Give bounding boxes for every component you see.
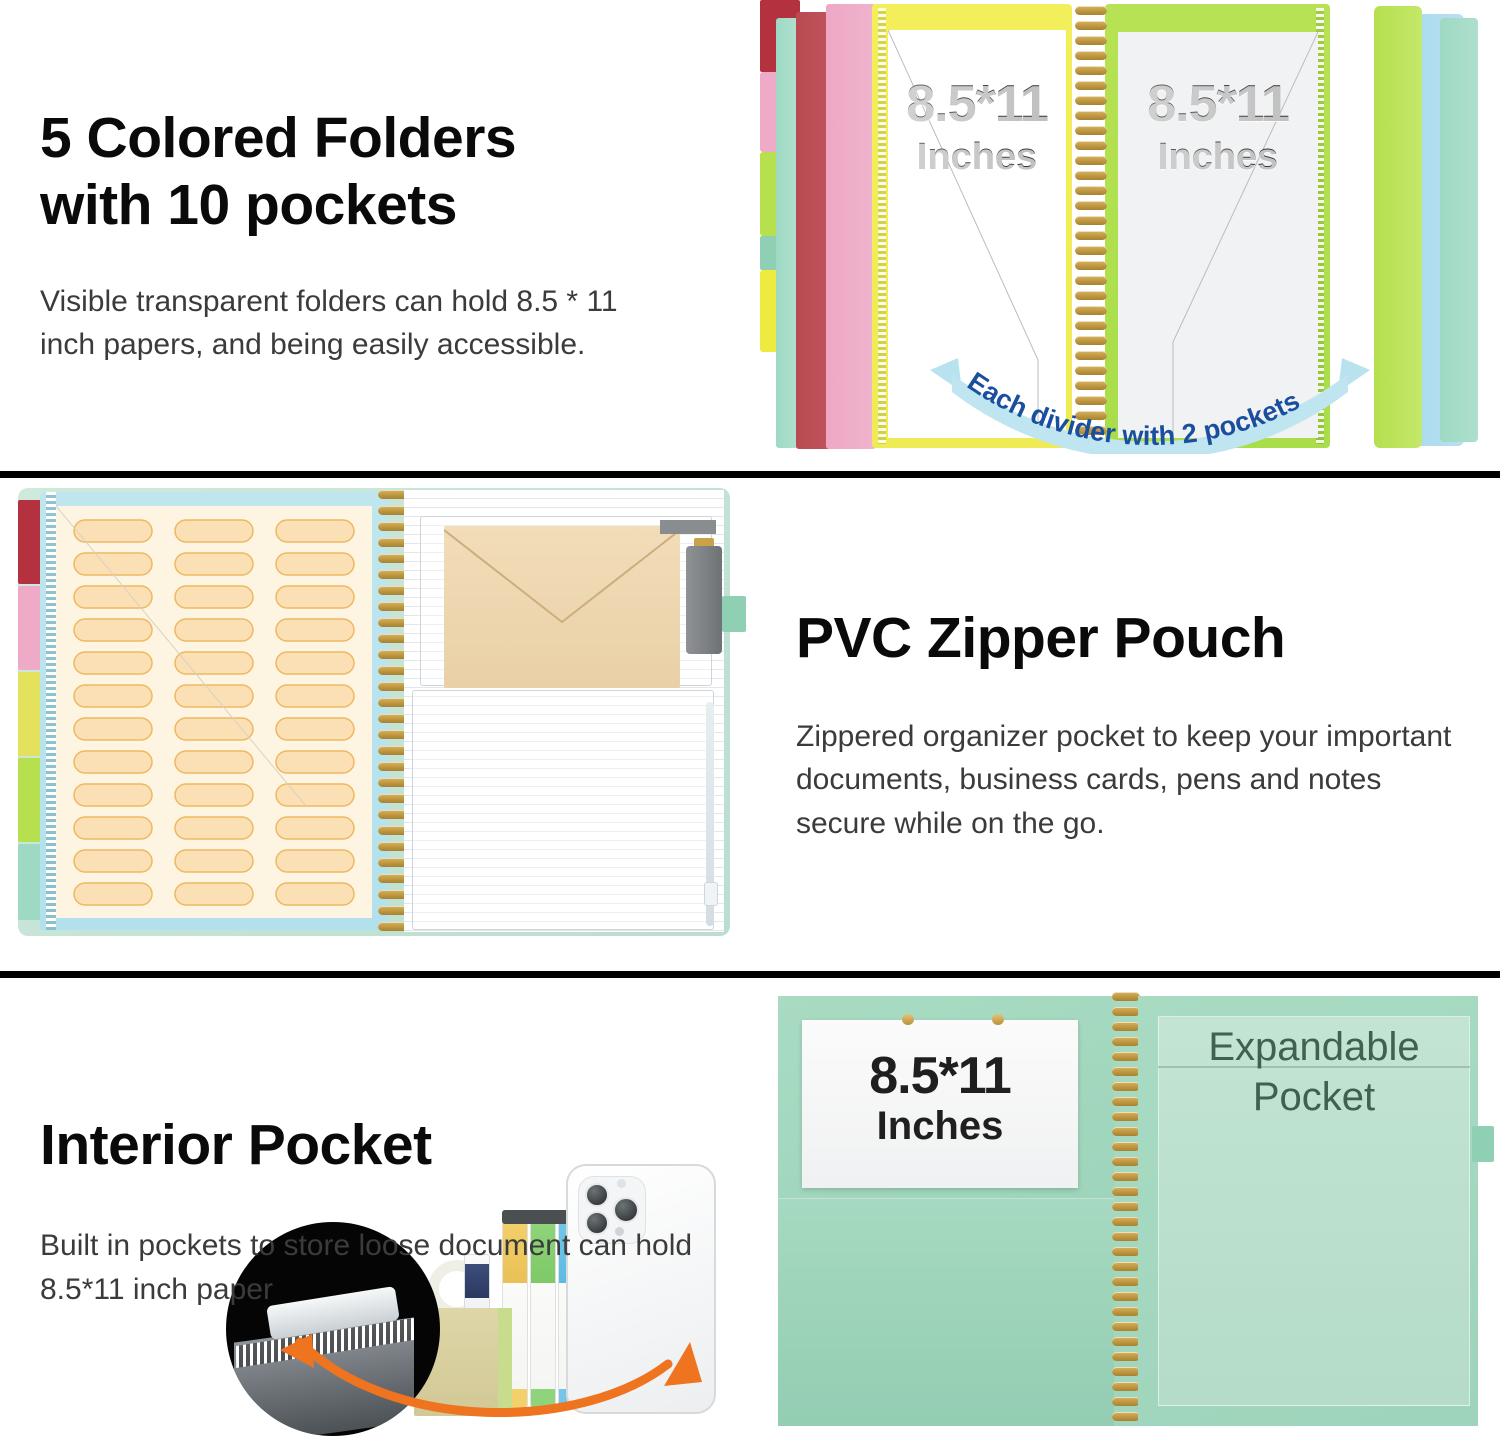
dimension-label-right-page: 8.5*11 Inches <box>1118 78 1318 180</box>
divider-sheet-pink <box>826 4 878 449</box>
panel-1-headline-line1: 5 Colored Folders <box>40 106 516 170</box>
panel-2-subcopy: Zippered organizer pocket to keep your i… <box>796 715 1456 846</box>
elastic-band-tab <box>1472 1126 1494 1162</box>
side-tab-green <box>18 758 40 842</box>
expandable-pocket-label-line2: Pocket <box>1253 1075 1375 1119</box>
side-tab-pink <box>18 586 40 670</box>
rivet-left <box>902 1014 914 1025</box>
expandable-pocket-label: Expandable Pocket <box>1158 1022 1470 1122</box>
panel-1-image: 8.5*11 Inches 8.5*11 Inches Each <box>760 0 1500 472</box>
panel-interior-pocket: Interior Pocket Built in pockets to stor… <box>0 978 1500 1445</box>
section-divider-1 <box>0 471 1500 478</box>
pockets-curved-arrow: Each divider with 2 pockets <box>900 336 1400 454</box>
panel-1-text-column: 5 Colored Folders with 10 pockets Visibl… <box>0 0 760 472</box>
panel-1-headline-line2: with 10 pockets <box>40 173 457 237</box>
panel-1-subcopy: Visible transparent folders can hold 8.5… <box>40 280 680 367</box>
zipper-pull <box>704 882 718 906</box>
rivet-right <box>992 1014 1004 1025</box>
side-tab-red <box>18 500 40 584</box>
dimension-label-paper: 8.5*11 Inches <box>802 1050 1078 1148</box>
panel-pvc-zipper-pouch: PVC Zipper Pouch Zippered organizer pock… <box>0 478 1500 972</box>
sticker-labels <box>56 506 372 918</box>
elastic-band-tab <box>722 596 746 632</box>
binder-back-cover <box>1440 18 1478 442</box>
panel-2-text-column: PVC Zipper Pouch Zippered organizer pock… <box>760 478 1500 972</box>
interior-pocket-left <box>778 1198 1114 1426</box>
envelope-flap <box>444 526 680 688</box>
dimension-value-left: 8.5*11 <box>888 78 1066 130</box>
panel-colored-folders: 5 Colored Folders with 10 pockets Visibl… <box>0 0 1500 472</box>
usb-flash-drive <box>686 546 722 654</box>
side-tab-mint <box>18 844 40 920</box>
interior-pocket-illustration: 8.5*11 Inches <box>760 978 1500 1445</box>
dimension-unit: Inches <box>802 1104 1078 1148</box>
dimension-label-left-page: 8.5*11 Inches <box>888 78 1066 180</box>
panel-3-headline: Interior Pocket <box>40 1112 700 1178</box>
panel-2-image <box>0 478 760 972</box>
expandable-pocket-label-line1: Expandable <box>1208 1025 1419 1069</box>
dimension-unit-right: Inches <box>1118 136 1318 180</box>
dimension-unit-left: Inches <box>888 136 1066 180</box>
spiral-binding <box>1112 990 1140 1430</box>
card-edge <box>660 520 716 534</box>
panel-2-headline: PVC Zipper Pouch <box>796 605 1456 671</box>
sticker-label-sheet <box>56 506 372 918</box>
side-tab-yellow <box>18 672 40 756</box>
open-binder-illustration: 8.5*11 Inches 8.5*11 Inches Each <box>760 0 1500 472</box>
pvc-pouch-bottom <box>412 690 714 930</box>
section-divider-2 <box>0 971 1500 978</box>
open-notebook-pouch-illustration <box>0 478 760 972</box>
dimension-value-right: 8.5*11 <box>1118 78 1318 130</box>
perforation-strip <box>46 492 56 930</box>
dimension-value: 8.5*11 <box>802 1050 1078 1102</box>
infographic-page: 5 Colored Folders with 10 pockets Visibl… <box>0 0 1500 1445</box>
side-divider-tabs <box>18 500 40 920</box>
panel-3-text-column: Interior Pocket Built in pockets to stor… <box>0 978 760 1445</box>
kraft-envelope <box>444 526 680 688</box>
panel-3-image: 8.5*11 Inches <box>760 978 1500 1445</box>
perforation-strip-left <box>878 8 886 444</box>
panel-3-subcopy: Built in pockets to store loose document… <box>40 1224 700 1311</box>
panel-1-headline: 5 Colored Folders with 10 pockets <box>40 105 700 237</box>
